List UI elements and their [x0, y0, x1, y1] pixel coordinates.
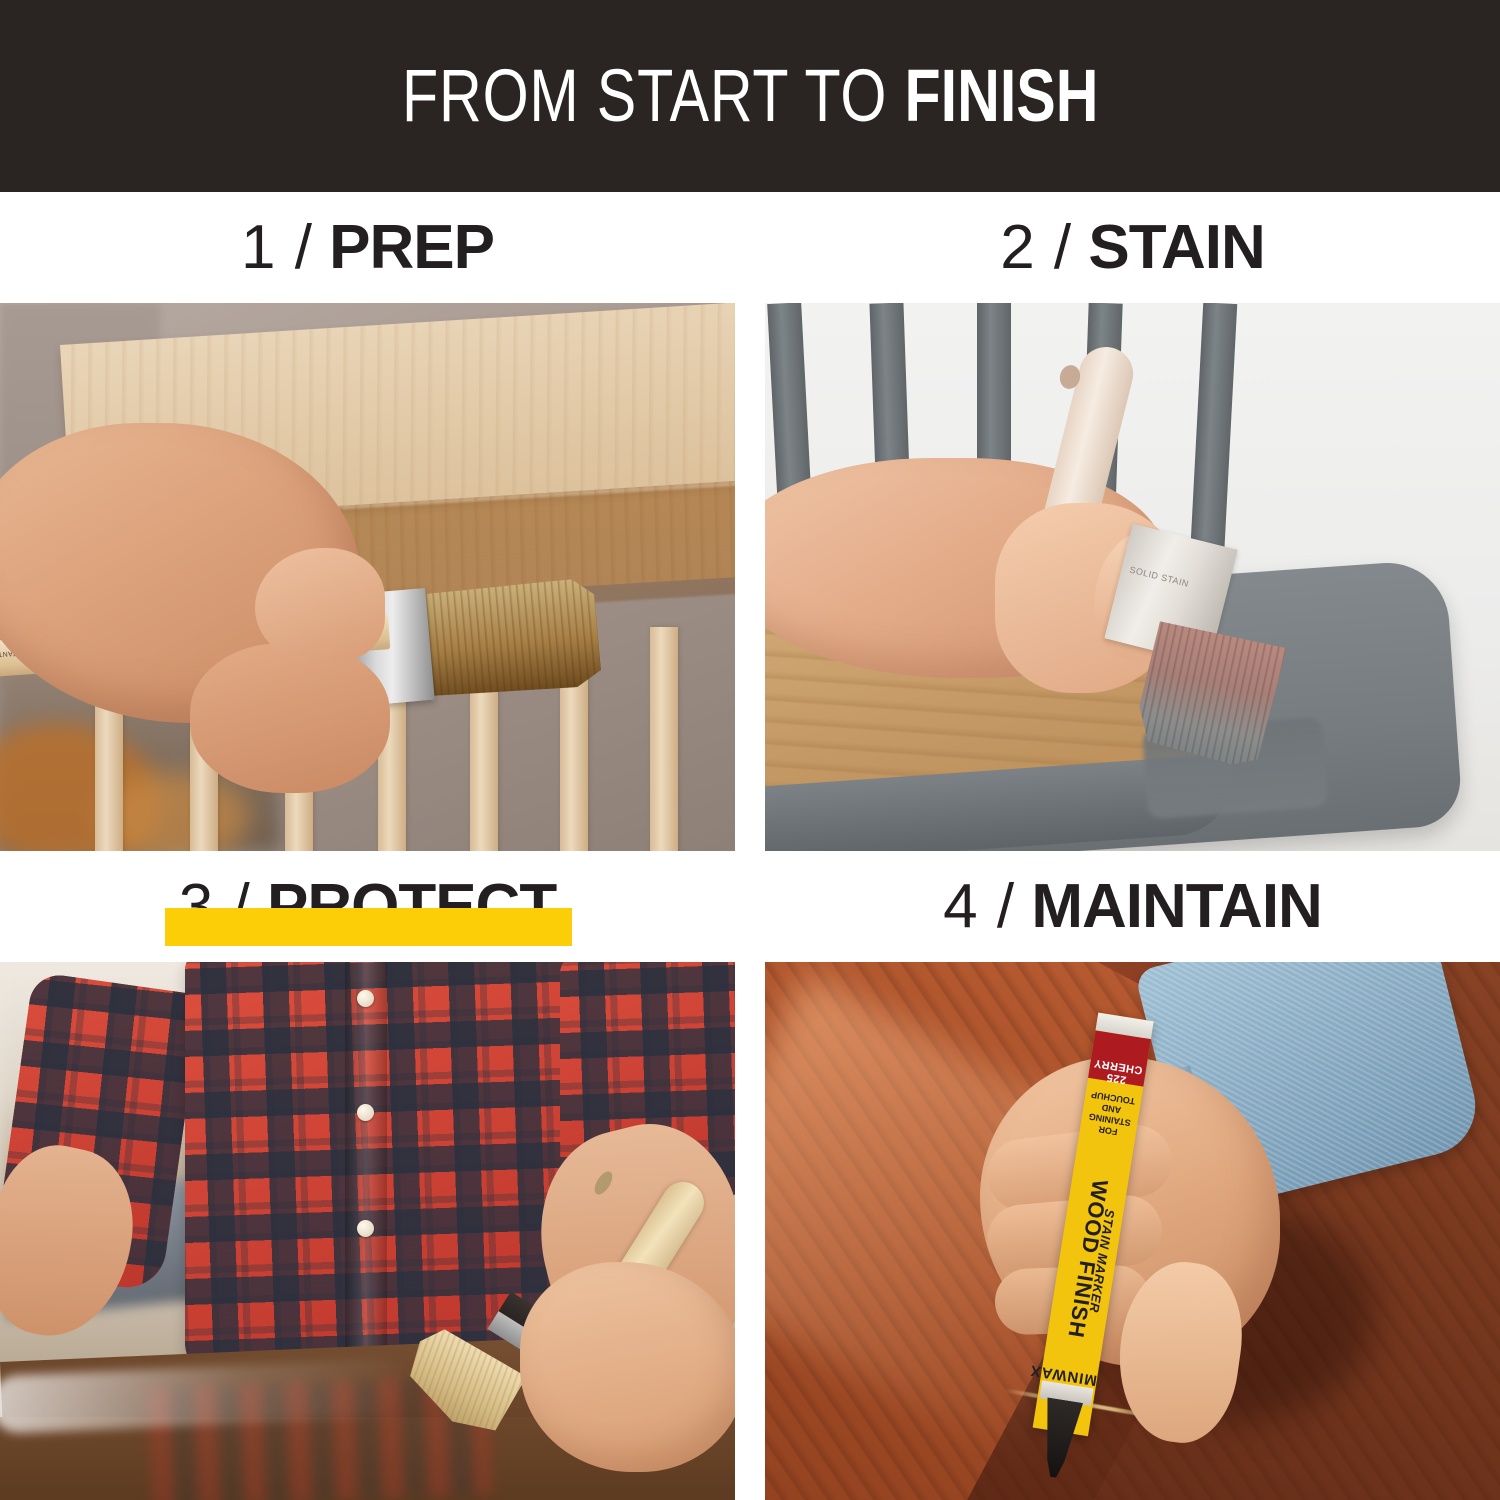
shirt-placket	[345, 962, 387, 1382]
step-separator-prep: /	[295, 213, 312, 282]
bristle-texture	[414, 577, 603, 700]
page-title-light: FROM START TO	[402, 54, 887, 137]
step-card-maintain: 4 / MAINTAIN	[765, 851, 1500, 1500]
step-card-prep: 1 / PREP	[0, 192, 735, 851]
step-card-protect: 3 / PROTECT	[0, 851, 735, 1500]
knuckles	[190, 643, 390, 793]
step-label-band-protect: 3 / PROTECT	[0, 851, 735, 962]
step-photo-stain: SOLID STAIN	[765, 303, 1500, 851]
brush-bristles	[414, 577, 603, 700]
step-label-stain: 2 / STAIN	[1000, 217, 1265, 279]
marker-color-band: 225 CHERRY	[1088, 1030, 1151, 1086]
step-label-prep: 1 / PREP	[241, 217, 494, 279]
step-photo-protect	[0, 962, 735, 1500]
page-title-bold: FINISH	[904, 54, 1098, 137]
step-label-band-prep: 1 / PREP	[0, 192, 735, 303]
step-name-stain: STAIN	[1088, 213, 1264, 282]
thumb	[255, 548, 385, 663]
step-label-band-stain: 2 / STAIN	[765, 192, 1500, 303]
shirt-button	[357, 1104, 374, 1121]
step-number-stain: 2	[1000, 213, 1036, 282]
step-name-maintain: MAINTAIN	[1031, 872, 1321, 941]
shirt-button	[357, 990, 374, 1007]
step-label-maintain: 4 / MAINTAIN	[943, 876, 1322, 938]
step-number-maintain: 4	[943, 872, 979, 941]
step-separator-stain: /	[1054, 213, 1071, 282]
step-card-stain: 2 / STAIN	[765, 192, 1500, 851]
hand	[520, 1262, 735, 1472]
infographic-page: FROM START TO FINISH 1 / PREP	[0, 0, 1500, 1500]
step-photo-maintain: 225 CHERRY FOR STAINING AND TOUCHUP WOOD…	[765, 962, 1500, 1500]
page-title: FROM START TO FINISH	[402, 59, 1098, 133]
steps-grid: 1 / PREP	[0, 192, 1500, 1500]
step-separator-maintain: /	[997, 872, 1014, 941]
step-label-highlight-wrap: 3 / PROTECT	[179, 876, 556, 938]
chair-slat	[650, 627, 678, 851]
shirt-button	[357, 1220, 374, 1237]
marker-usage-text: FOR STAINING AND TOUCHUP	[1080, 1088, 1142, 1140]
step-label-protect: 3 / PROTECT	[179, 876, 556, 938]
highlight-bar	[165, 908, 572, 946]
step-number-prep: 1	[241, 213, 277, 282]
marker-color-code: 225 CHERRY	[1088, 1056, 1147, 1088]
header-bar: FROM START TO FINISH	[0, 0, 1500, 192]
step-label-band-maintain: 4 / MAINTAIN	[765, 851, 1500, 962]
step-name-prep: PREP	[329, 213, 494, 282]
brush-ferrule-text: SOLID STAIN	[1129, 564, 1190, 588]
step-photo-prep: Purdy W-ADJUTANT	[0, 303, 735, 851]
